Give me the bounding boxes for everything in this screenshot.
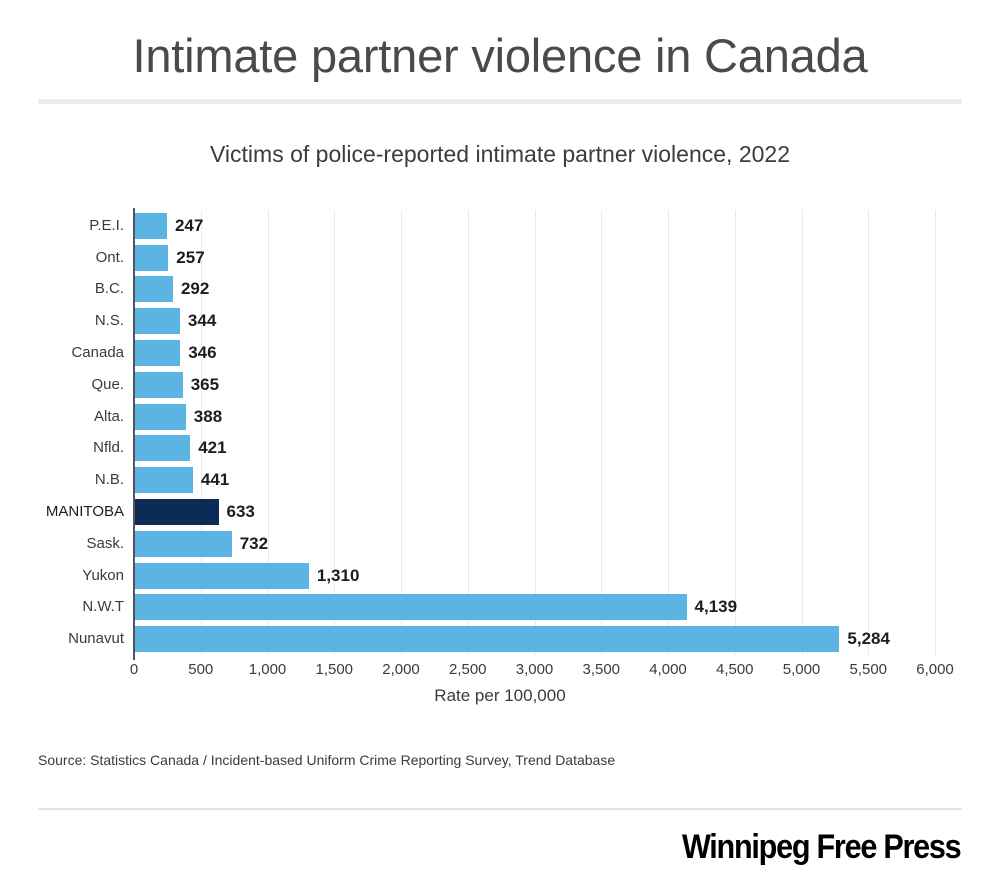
bar[interactable] (134, 563, 309, 589)
bar-value-label: 365 (191, 375, 219, 395)
category-label: Sask. (4, 535, 124, 552)
bar-value-label: 633 (227, 502, 255, 522)
bar[interactable] (134, 372, 183, 398)
category-label: Alta. (4, 408, 124, 425)
publisher-logo: Winnipeg Free Press (682, 828, 960, 867)
category-label: N.W.T (4, 598, 124, 615)
x-tick-label: 0 (130, 661, 138, 678)
bar-row[interactable]: 441 (134, 467, 935, 493)
bar-value-label: 346 (188, 343, 216, 363)
bar-value-label: 1,310 (317, 566, 360, 586)
bar[interactable] (134, 404, 186, 430)
bar-value-label: 5,284 (847, 629, 890, 649)
bar[interactable] (134, 340, 180, 366)
bar-value-label: 257 (176, 248, 204, 268)
bar-value-label: 441 (201, 470, 229, 490)
bar-row[interactable]: 5,284 (134, 626, 935, 652)
bar-row[interactable]: 388 (134, 404, 935, 430)
bar-row[interactable]: 346 (134, 340, 935, 366)
bar-row[interactable]: 1,310 (134, 563, 935, 589)
category-label: Ont. (4, 249, 124, 266)
x-tick-label: 2,500 (449, 661, 487, 678)
category-label: B.C. (4, 280, 124, 297)
category-label: Nunavut (4, 630, 124, 647)
x-tick-label: 6,000 (916, 661, 954, 678)
bar[interactable] (134, 308, 180, 334)
bar-row[interactable]: 247 (134, 213, 935, 239)
category-label: N.S. (4, 312, 124, 329)
category-label: Yukon (4, 567, 124, 584)
plot-area: 2472572923443463653884214416337321,3104,… (134, 210, 935, 655)
bar-row[interactable]: 421 (134, 435, 935, 461)
bar-row[interactable]: 633 (134, 499, 935, 525)
footer-divider (38, 808, 962, 810)
bar-row[interactable]: 257 (134, 245, 935, 271)
bar[interactable] (134, 531, 232, 557)
bar-value-label: 344 (188, 311, 216, 331)
bar-row[interactable]: 292 (134, 276, 935, 302)
category-label: N.B. (4, 471, 124, 488)
x-tick-label: 5,000 (783, 661, 821, 678)
bar-value-label: 4,139 (695, 597, 738, 617)
bar-value-label: 247 (175, 216, 203, 236)
category-label: Que. (4, 376, 124, 393)
bar-row[interactable]: 4,139 (134, 594, 935, 620)
bar-value-label: 388 (194, 407, 222, 427)
x-tick-label: 5,500 (849, 661, 887, 678)
bar-highlighted[interactable] (134, 499, 219, 525)
category-label: Canada (4, 344, 124, 361)
category-label: P.E.I. (4, 217, 124, 234)
source-note: Source: Statistics Canada / Incident-bas… (38, 752, 615, 768)
x-tick-label: 1,500 (315, 661, 353, 678)
x-tick-label: 500 (188, 661, 213, 678)
x-tick-label: 1,000 (249, 661, 287, 678)
gridline (935, 210, 936, 655)
x-axis-title: Rate per 100,000 (0, 686, 1000, 706)
x-tick-label: 3,500 (582, 661, 620, 678)
bar-row[interactable]: 365 (134, 372, 935, 398)
bar-row[interactable]: 344 (134, 308, 935, 334)
x-tick-label: 2,000 (382, 661, 420, 678)
bar[interactable] (134, 626, 839, 652)
bar[interactable] (134, 435, 190, 461)
x-tick-label: 4,000 (649, 661, 687, 678)
bar[interactable] (134, 245, 168, 271)
bar[interactable] (134, 213, 167, 239)
bar-value-label: 421 (198, 438, 226, 458)
bar-value-label: 732 (240, 534, 268, 554)
category-label: Nfld. (4, 439, 124, 456)
x-tick-label: 3,000 (516, 661, 554, 678)
category-label: MANITOBA (4, 503, 124, 520)
bar-row[interactable]: 732 (134, 531, 935, 557)
x-tick-label: 4,500 (716, 661, 754, 678)
y-axis-line (133, 208, 135, 660)
bar-value-label: 292 (181, 279, 209, 299)
bar[interactable] (134, 467, 193, 493)
bar[interactable] (134, 276, 173, 302)
bar[interactable] (134, 594, 687, 620)
